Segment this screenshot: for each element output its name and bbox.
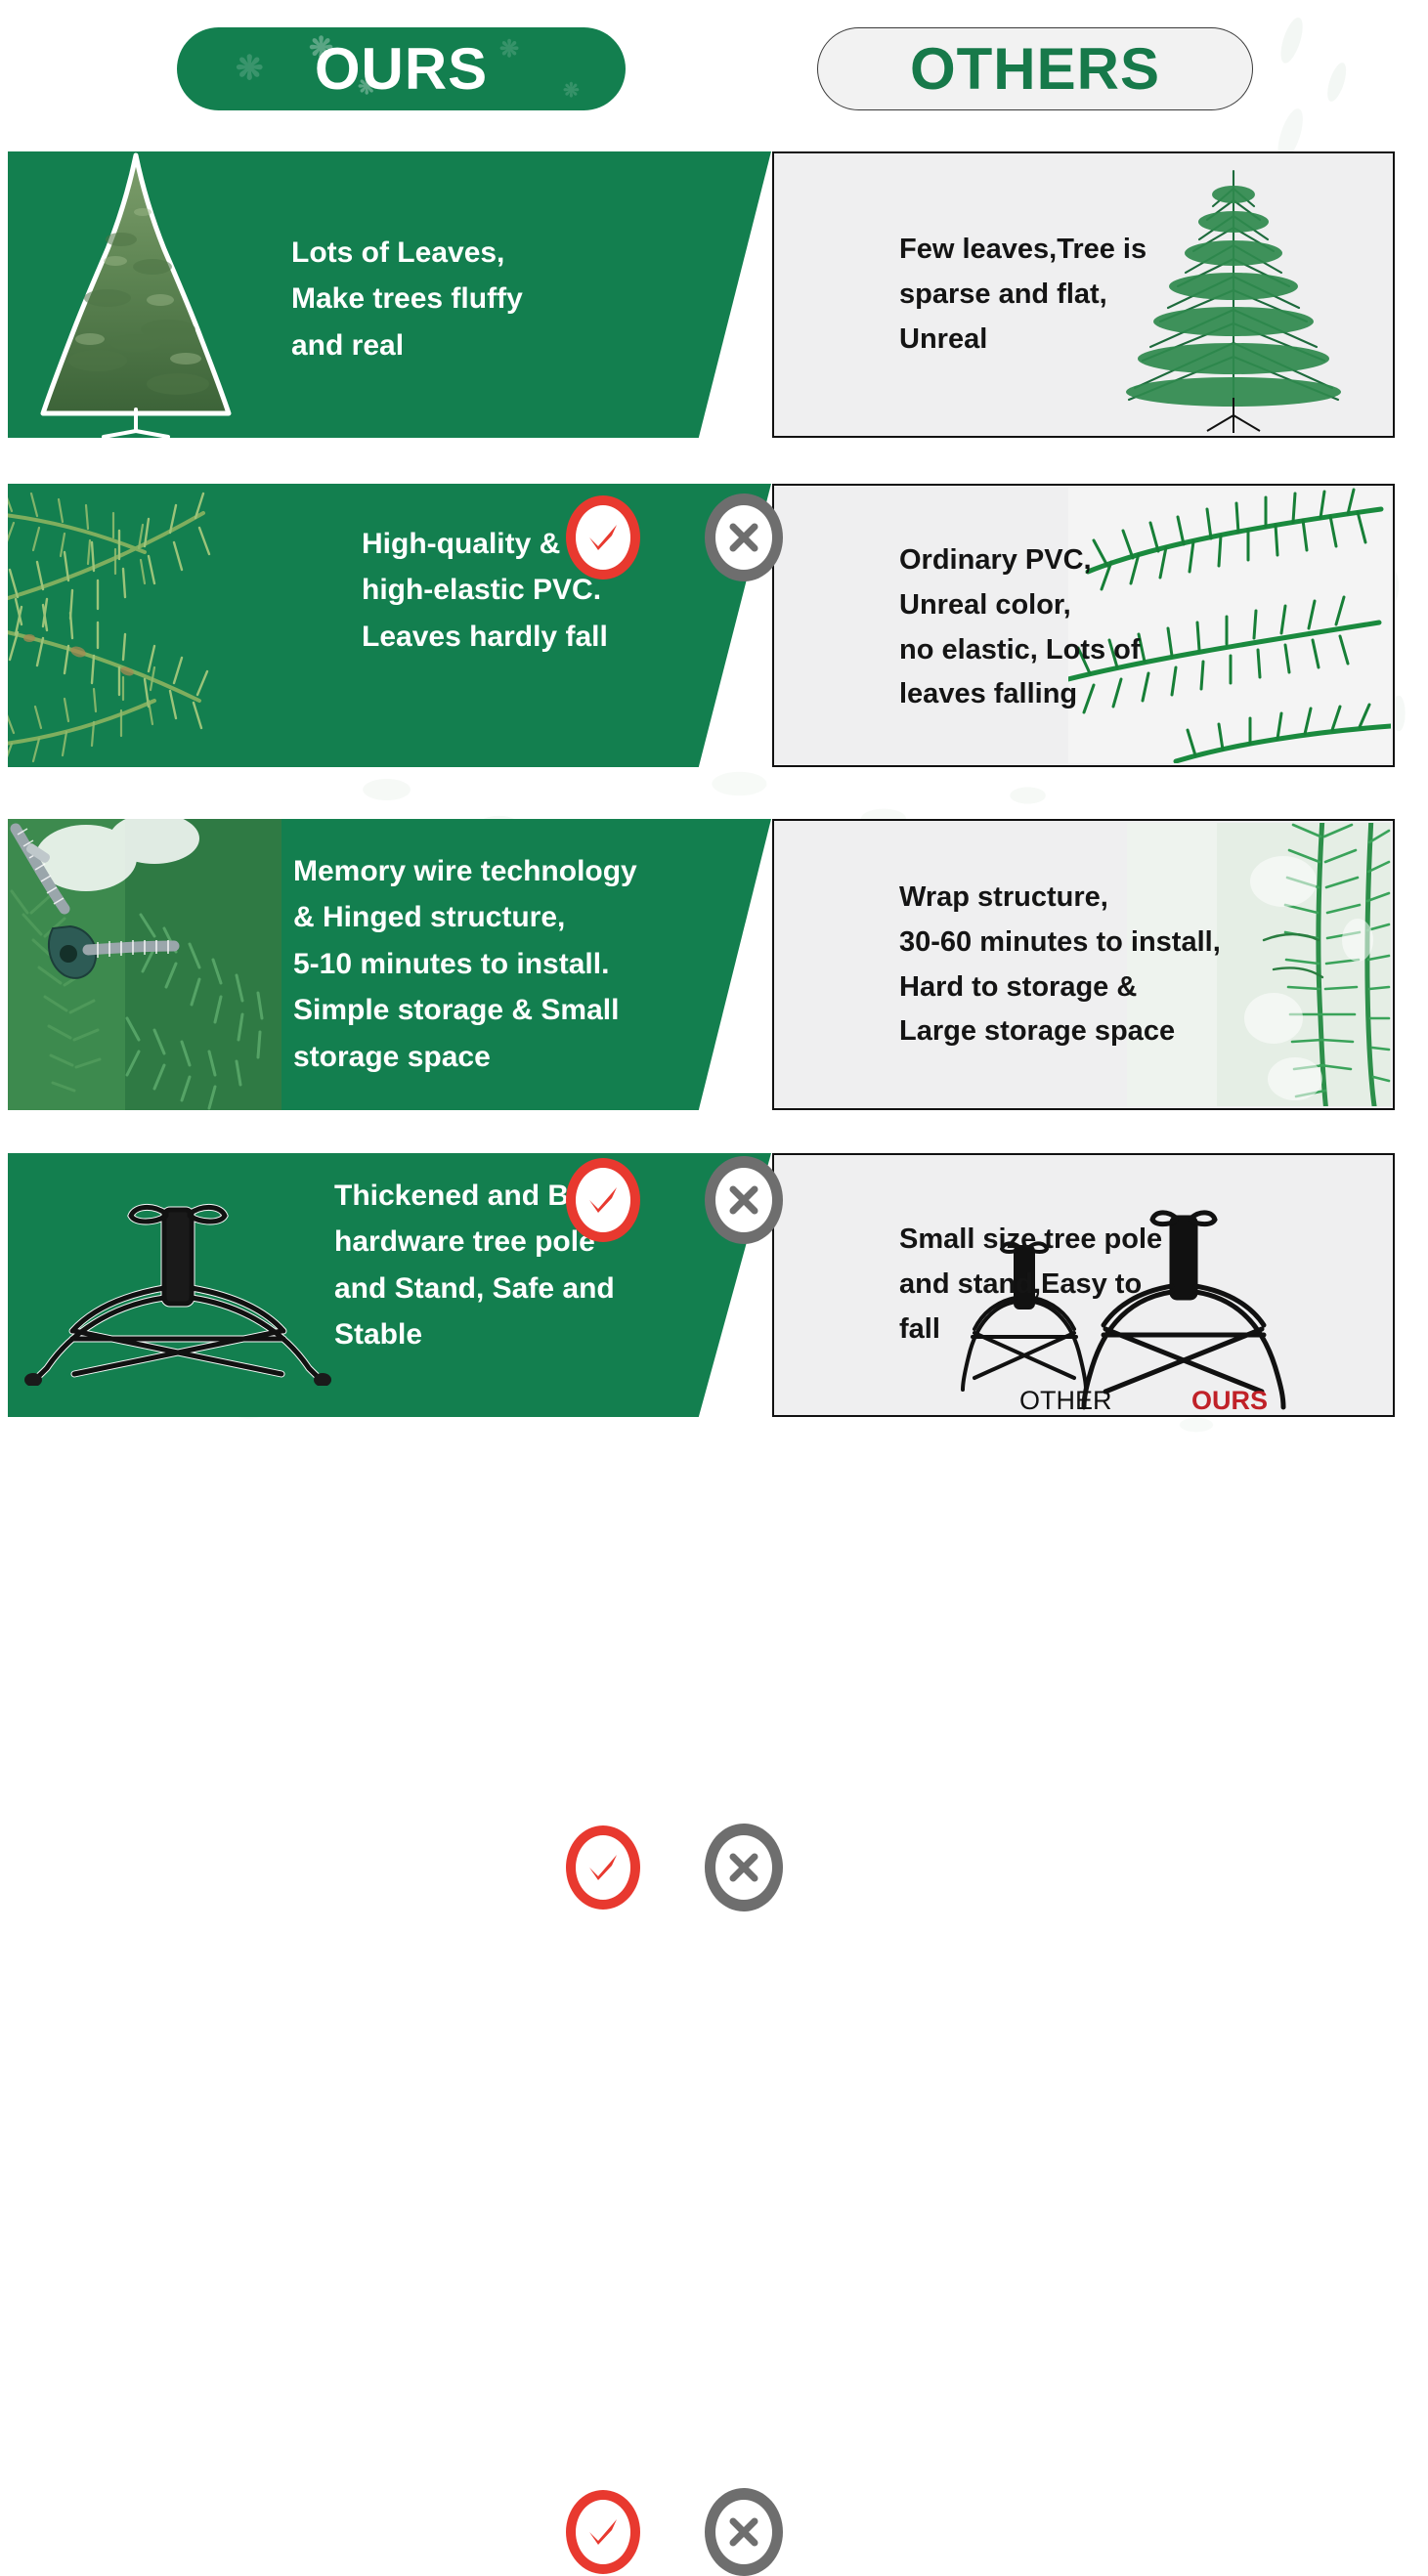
others-card-stand: OTHER OURS Small size tree pole and stan… <box>772 1153 1395 1417</box>
full-christmas-tree-dense-image <box>14 151 258 438</box>
check-badge <box>566 1158 640 1242</box>
others-line: no elastic, Lots of <box>899 628 1141 673</box>
ours-card-pvc: High-quality & high-elastic PVC. Leaves … <box>8 484 771 767</box>
ours-text-leaves: Lots of Leaves, Make trees fluffy and re… <box>291 230 523 368</box>
others-card-pvc: Ordinary PVC, Unreal color, no elastic, … <box>772 484 1395 767</box>
check-badge <box>566 2490 640 2574</box>
others-text-pvc: Ordinary PVC, Unreal color, no elastic, … <box>899 538 1141 717</box>
others-line: fall <box>899 1308 1162 1352</box>
ours-line: and real <box>291 322 523 368</box>
cross-badge <box>705 1156 783 1244</box>
other-stand-label: OTHER <box>1019 1386 1112 1413</box>
others-line: sparse and flat, <box>899 273 1147 318</box>
closeup-realistic-pine-branch-image <box>8 484 330 767</box>
ours-column-header-label: OURS <box>315 35 488 103</box>
others-line: Unreal <box>899 318 1147 363</box>
others-text-leaves: Few leaves,Tree is sparse and flat, Unre… <box>899 228 1147 362</box>
heavy-duty-metal-tree-stand-image <box>18 1200 350 1417</box>
ours-card-stand: Thickened and Bold hardware tree pole an… <box>8 1153 771 1417</box>
others-line: and stand,Easy to <box>899 1263 1162 1308</box>
others-line: Few leaves,Tree is <box>899 228 1147 273</box>
snowflake-icon: ❋ <box>499 35 520 64</box>
ours-card-assembly: Memory wire technology & Hinged structur… <box>8 819 771 1110</box>
snowflake-icon: ❋ <box>236 49 265 88</box>
hinged-branch-mechanism-image <box>8 819 281 1110</box>
others-text-stand: Small size tree pole and stand,Easy to f… <box>899 1218 1162 1352</box>
ours-line: Leaves hardly fall <box>362 614 608 660</box>
cross-badge <box>705 494 783 581</box>
ours-line: Stable <box>334 1311 615 1357</box>
others-line: Unreal color, <box>899 583 1141 628</box>
ours-line: Memory wire technology <box>293 848 637 894</box>
snowflake-icon: ❋ <box>563 78 581 103</box>
ours-column-header: ❋ ❋ ❋ ❋ ❋ OURS <box>177 27 626 110</box>
ours-line: and Stand, Safe and <box>334 1266 615 1311</box>
ours-line: high-elastic PVC. <box>362 567 608 613</box>
others-line: Large storage space <box>899 1009 1221 1054</box>
others-line: 30-60 minutes to install, <box>899 921 1221 966</box>
check-badge <box>566 1825 640 1910</box>
comparison-row-leaves: Few leaves,Tree is sparse and flat, Unre… <box>0 151 1428 438</box>
others-column-header-label: OTHERS <box>910 35 1160 103</box>
ours-line: 5-10 minutes to install. <box>293 941 637 987</box>
ours-line: Make trees fluffy <box>291 276 523 322</box>
ours-stand-label: OURS <box>1191 1386 1268 1413</box>
others-line: Hard to storage & <box>899 966 1221 1010</box>
ours-text-assembly: Memory wire technology & Hinged structur… <box>293 848 637 1080</box>
ours-line: Lots of Leaves, <box>291 230 523 276</box>
comparison-header: ❋ ❋ ❋ ❋ ❋ OURS OTHERS <box>0 0 1428 137</box>
others-text-assembly: Wrap structure, 30-60 minutes to install… <box>899 876 1221 1054</box>
check-badge <box>566 495 640 580</box>
cross-badge <box>705 2488 783 2576</box>
ours-line: hardware tree pole <box>334 1219 615 1265</box>
others-card-leaves: Few leaves,Tree is sparse and flat, Unre… <box>772 151 1395 438</box>
others-card-assembly: Wrap structure, 30-60 minutes to install… <box>772 819 1395 1110</box>
others-column-header: OTHERS <box>817 27 1253 110</box>
ours-line: & Hinged structure, <box>293 894 637 940</box>
others-line: Small size tree pole <box>899 1218 1162 1263</box>
ours-line: storage space <box>293 1034 637 1080</box>
ours-card-leaves: Lots of Leaves, Make trees fluffy and re… <box>8 151 771 438</box>
others-line: Ordinary PVC, <box>899 538 1141 583</box>
others-line: leaves falling <box>899 672 1141 717</box>
cross-badge <box>705 1824 783 1911</box>
ours-line: Simple storage & Small <box>293 987 637 1033</box>
others-line: Wrap structure, <box>899 876 1221 921</box>
comparison-row-assembly: Wrap structure, 30-60 minutes to install… <box>0 819 1428 1110</box>
